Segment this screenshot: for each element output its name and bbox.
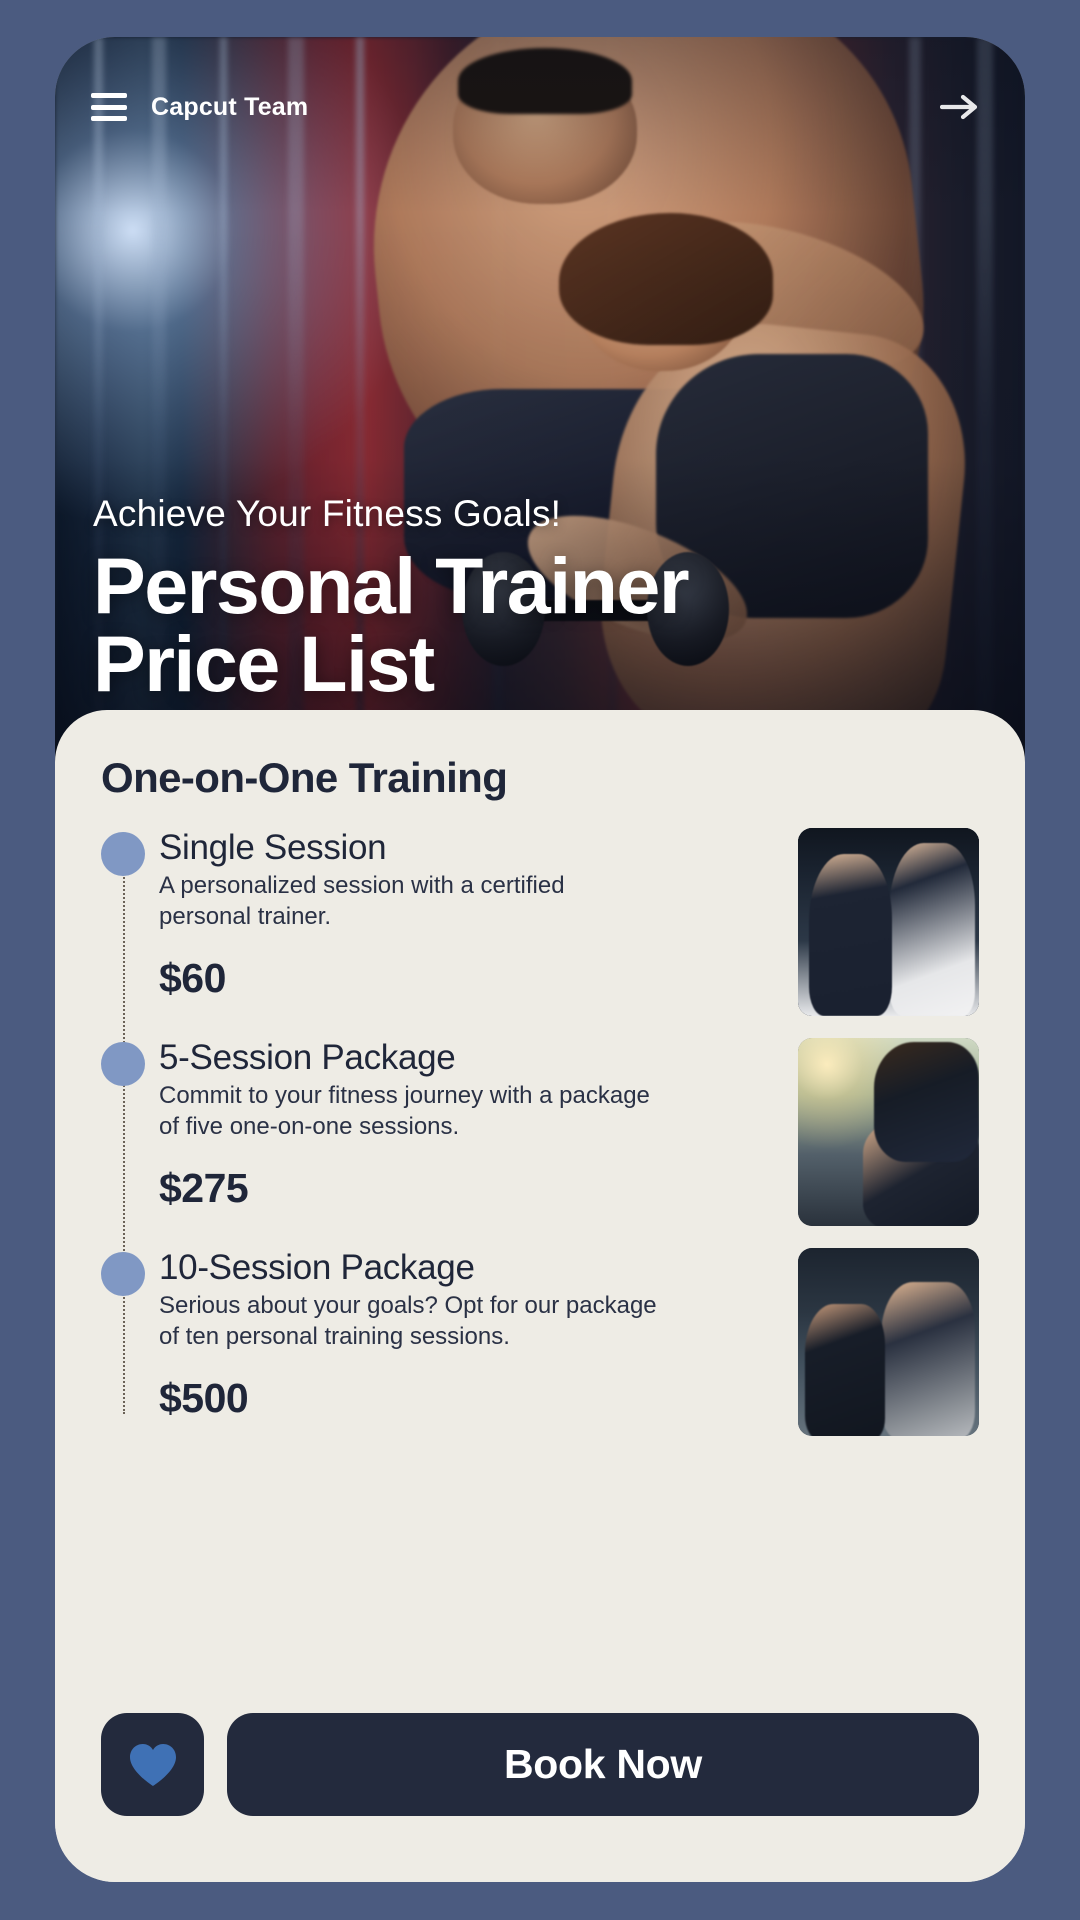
- phone-frame: Achieve Your Fitness Goals! Personal Tra…: [55, 37, 1025, 1882]
- bottom-actions: Book Now: [101, 1713, 979, 1816]
- plan-price: $275: [159, 1165, 786, 1212]
- list-item[interactable]: 5-Session Package Commit to your fitness…: [101, 1038, 979, 1226]
- plan-title: 10-Session Package: [159, 1248, 786, 1287]
- plan-description: Commit to your fitness journey with a pa…: [159, 1081, 659, 1142]
- pricing-card: One-on-One Training Single Session A per…: [55, 710, 1025, 1882]
- plan-thumbnail: [798, 1038, 979, 1226]
- timeline-dot-icon: [101, 832, 145, 876]
- plan-title: Single Session: [159, 828, 786, 867]
- list-item[interactable]: 10-Session Package Serious about your go…: [101, 1248, 979, 1436]
- favorite-button[interactable]: [101, 1713, 204, 1816]
- plan-description: Serious about your goals? Opt for our pa…: [159, 1291, 659, 1352]
- plan-price: $60: [159, 955, 786, 1002]
- list-item[interactable]: Single Session A personalized session wi…: [101, 828, 979, 1016]
- hamburger-menu-icon[interactable]: [91, 93, 127, 121]
- heart-icon: [127, 1741, 179, 1789]
- plan-list: Single Session A personalized session wi…: [101, 828, 979, 1436]
- plan-price: $500: [159, 1375, 786, 1422]
- plan-thumbnail: [798, 828, 979, 1016]
- timeline-dot-icon: [101, 1252, 145, 1296]
- book-now-button[interactable]: Book Now: [227, 1713, 979, 1816]
- hero-title-line-1: Personal Trainer: [93, 541, 688, 630]
- section-title: One-on-One Training: [101, 754, 979, 802]
- plan-thumbnail: [798, 1248, 979, 1436]
- page-title: Personal Trainer Price List: [93, 547, 793, 702]
- plan-title: 5-Session Package: [159, 1038, 786, 1077]
- hero-title-line-2: Price List: [93, 619, 434, 708]
- brand-label: Capcut Team: [151, 93, 308, 122]
- top-bar: Capcut Team: [55, 37, 1025, 177]
- arrow-right-icon[interactable]: [939, 92, 981, 122]
- timeline-dot-icon: [101, 1042, 145, 1086]
- plan-description: A personalized session with a certified …: [159, 871, 659, 932]
- hero-copy: Achieve Your Fitness Goals! Personal Tra…: [93, 493, 793, 702]
- hero-eyebrow: Achieve Your Fitness Goals!: [93, 493, 793, 535]
